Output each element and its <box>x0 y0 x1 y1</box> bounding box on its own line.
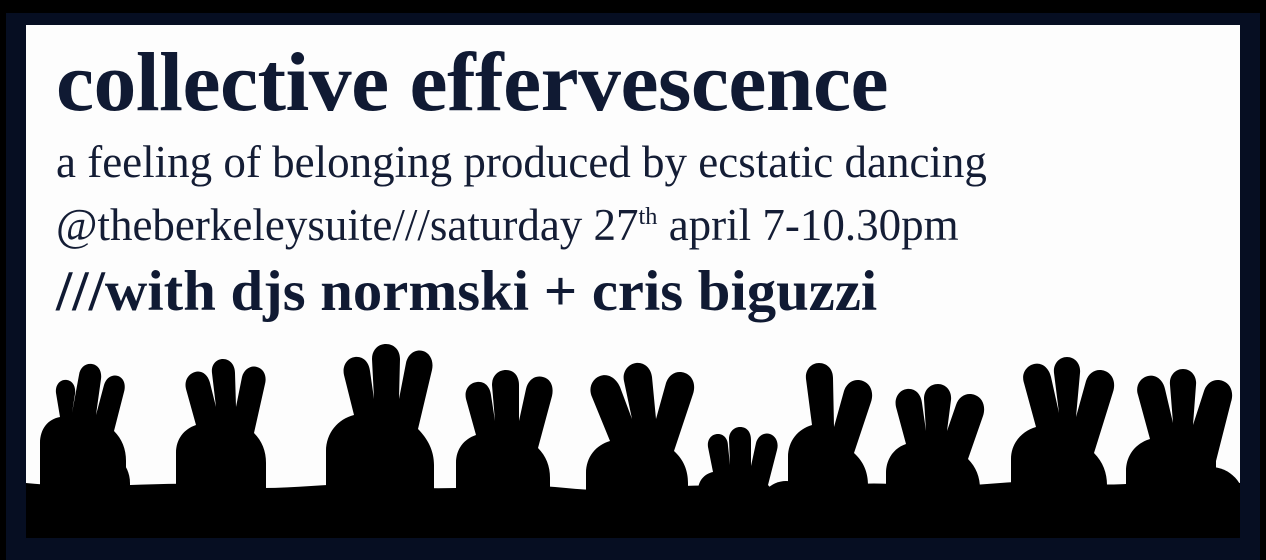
event-month-and-time: april 7-10.30pm <box>657 200 958 250</box>
event-day: saturday 27 <box>430 200 639 250</box>
crowd-silhouette-artwork <box>26 333 1240 538</box>
venue-and-date-line: @theberkeleysuite///saturday 27th april … <box>56 193 1230 257</box>
poster-canvas: collective effervescence a feeling of be… <box>0 0 1266 560</box>
venue-handle: @theberkeleysuite <box>56 200 392 250</box>
venue-separator: /// <box>392 200 430 250</box>
lineup-line: ///with djs normski + cris biguzzi <box>56 257 1240 327</box>
poster-text-block: collective effervescence a feeling of be… <box>56 35 1230 327</box>
page-title: collective effervescence <box>56 35 1240 131</box>
ordinal-suffix: th <box>639 203 658 230</box>
poster-subtitle: a feeling of belonging produced by ecsta… <box>56 131 1230 193</box>
poster-white-panel: collective effervescence a feeling of be… <box>26 25 1240 538</box>
